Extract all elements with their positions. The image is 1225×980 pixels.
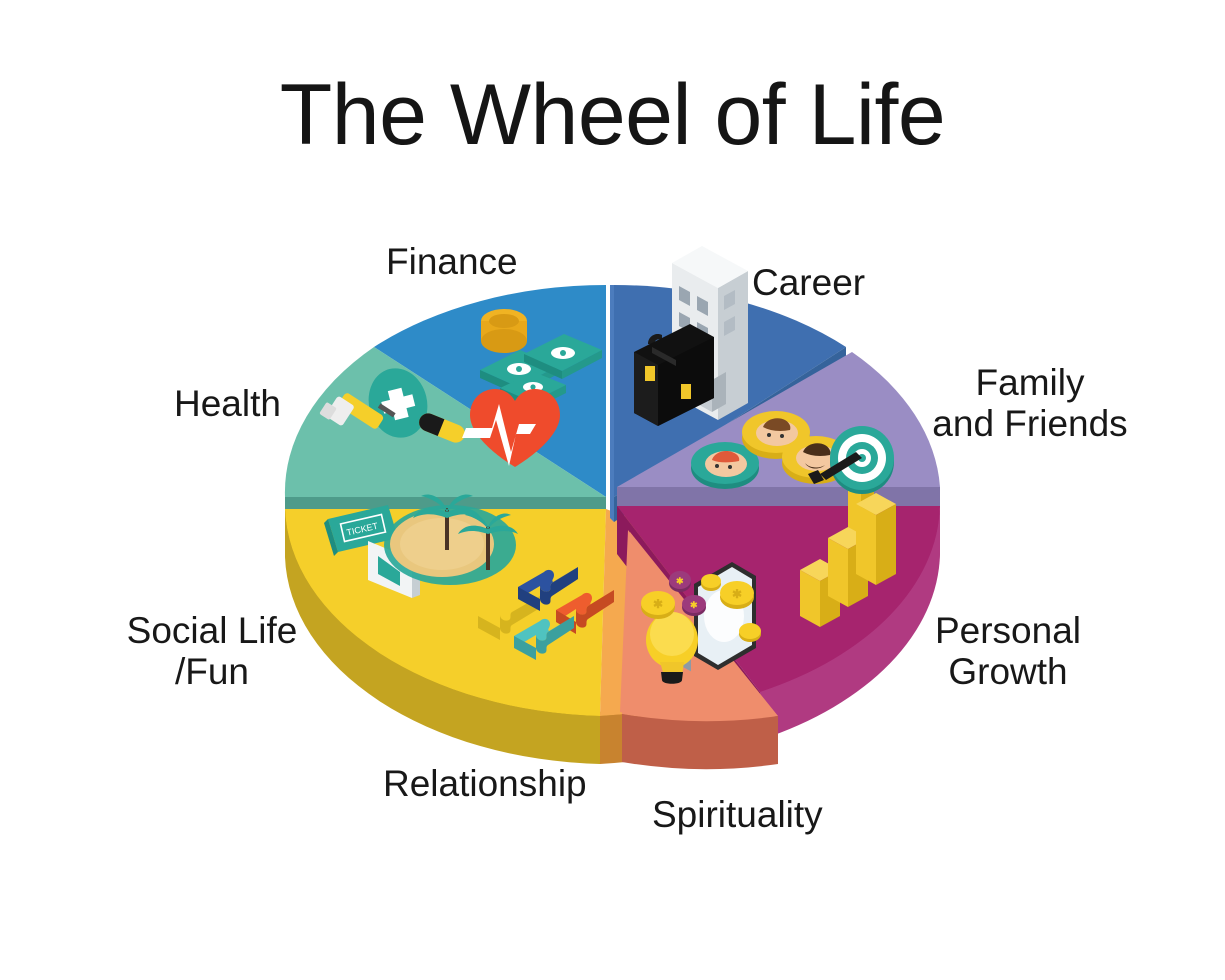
slice-label-health: Health (174, 383, 281, 424)
slice-label-career: Career (752, 262, 865, 303)
slice-label-finance: Finance (386, 241, 518, 282)
wheel-of-life-infographic: The Wheel of Life (0, 0, 1225, 980)
slice-label-personal-growth: Personal Growth (928, 610, 1088, 693)
slice-edge-career (610, 285, 614, 522)
slice-label-family: Family and Friends (930, 362, 1130, 445)
svg-text:✱: ✱ (732, 587, 742, 601)
svg-text:✱: ✱ (653, 597, 663, 611)
wheel-of-life-chart: TICKET (0, 0, 1225, 980)
slice-label-spirituality: Spirituality (652, 794, 823, 835)
slice-side-spirituality (622, 714, 778, 769)
bar-large (856, 493, 896, 585)
svg-text:✱: ✱ (676, 576, 684, 586)
slice-label-social-life: Social Life /Fun (122, 610, 302, 693)
coin-stack-icon (481, 309, 527, 353)
svg-text:✱: ✱ (690, 600, 698, 610)
slice-label-relationship: Relationship (383, 763, 587, 804)
